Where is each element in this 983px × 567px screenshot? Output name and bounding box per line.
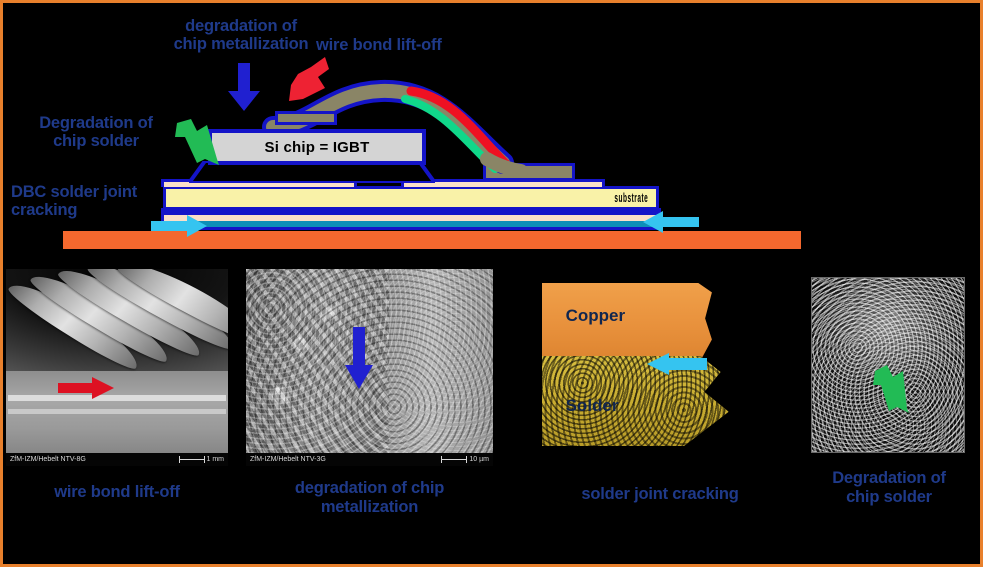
arrow-green-down-right-icon xyxy=(873,365,909,413)
label-degradation-of-chip-metallization: degradation of chip metallization xyxy=(166,17,316,54)
caption-degradation-of-chip-metallization: degradation of chip metallization xyxy=(242,479,497,517)
arrow-blue-down-icon xyxy=(344,327,374,389)
sem-image-wire-bond-lift-off: ZfM-IZM/Hebelt NTV-8G 1 mm xyxy=(6,269,228,466)
sem-info-bar: ZfM-IZM/Hebelt NTV-8G 1 mm xyxy=(6,453,228,466)
arrow-blue-down-icon xyxy=(227,63,261,111)
substrate-label: substrate xyxy=(614,191,648,205)
scale-value: 1 mm xyxy=(207,456,225,463)
panel-degradation-of-chip-metallization: ZfM-IZM/Hebelt NTV-3G 10 µm degradation … xyxy=(246,269,493,559)
panel-solder-joint-cracking: Copper Solder solder joint cracking xyxy=(538,269,774,559)
dbc-bottom-copper-layer xyxy=(161,214,661,221)
scale-value: 10 µm xyxy=(469,456,489,463)
cross-section-diagram: degradation of chip metallization wire b… xyxy=(3,3,980,263)
arrow-red-right-icon xyxy=(58,377,114,399)
si-chip-label: Si chip = IGBT xyxy=(265,139,370,156)
sem-source-label: ZfM-IZM/Hebelt NTV-3G xyxy=(250,456,326,463)
scale-bar: 1 mm xyxy=(179,456,225,463)
label-degradation-of-chip-solder: Degradation of chip solder xyxy=(21,114,171,151)
solder-label: Solder xyxy=(566,396,619,416)
arrow-cyan-left-icon xyxy=(647,353,707,375)
arrow-green-down-right-icon xyxy=(175,119,221,165)
chip-top-metallization-pad xyxy=(275,111,337,125)
sem-source-label: ZfM-IZM/Hebelt NTV-8G xyxy=(10,456,86,463)
sem-image-chip-metallization: ZfM-IZM/Hebelt NTV-3G 10 µm xyxy=(246,269,493,466)
si-chip-igbt: Si chip = IGBT xyxy=(208,129,426,165)
caption-wire-bond-lift-off: wire bond lift-off xyxy=(6,483,228,502)
caption-degradation-of-chip-solder: Degradation of chip solder xyxy=(791,469,983,507)
acoustic-scan-chip-solder xyxy=(799,269,977,461)
scale-bar: 10 µm xyxy=(441,456,489,463)
copper-label: Copper xyxy=(566,306,626,326)
ceramic-substrate-layer: substrate xyxy=(163,186,659,210)
micrograph-panel-strip: ZfM-IZM/Hebelt NTV-8G 1 mm wire bond lif… xyxy=(3,265,980,565)
sem-info-bar: ZfM-IZM/Hebelt NTV-3G 10 µm xyxy=(246,453,493,466)
optical-image-solder-joint-cracking: Copper Solder xyxy=(542,279,778,446)
caption-solder-joint-cracking: solder joint cracking xyxy=(538,485,782,504)
panel-degradation-of-chip-solder: Degradation of chip solder xyxy=(799,269,977,559)
baseplate-solder-layer xyxy=(161,221,661,230)
label-wire-bond-lift-off: wire bond lift-off xyxy=(316,36,478,54)
arrow-cyan-right-icon xyxy=(151,215,207,237)
panel-wire-bond-lift-off: ZfM-IZM/Hebelt NTV-8G 1 mm wire bond lif… xyxy=(6,269,228,559)
arrow-cyan-left-icon xyxy=(643,211,699,233)
arrow-red-down-left-icon xyxy=(285,55,329,103)
figure-root: degradation of chip metallization wire b… xyxy=(0,0,983,567)
